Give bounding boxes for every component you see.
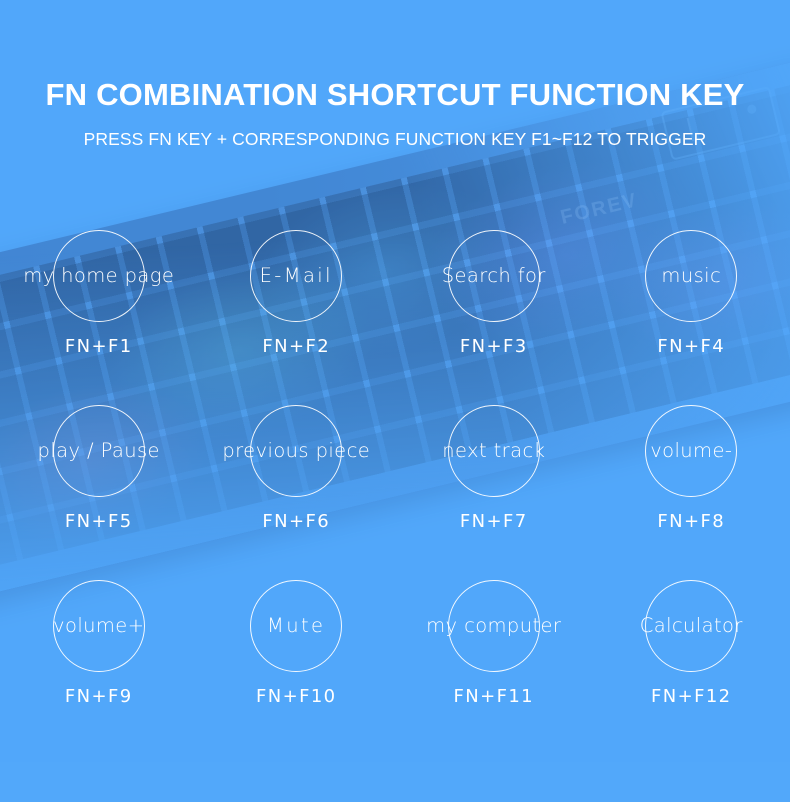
shortcut-item-fn-f2[interactable]: E-Mail FN+F2 bbox=[198, 196, 396, 371]
shortcut-label: Calculator bbox=[640, 612, 743, 640]
shortcut-combo: FN+F11 bbox=[453, 686, 534, 707]
shortcut-row: my home page FN+F1 E-Mail FN+F2 Search f… bbox=[0, 196, 790, 371]
shortcut-item-fn-f8[interactable]: volume- FN+F8 bbox=[593, 371, 790, 546]
shortcut-label: Mute bbox=[267, 612, 325, 640]
shortcut-item-fn-f10[interactable]: Mute FN+F10 bbox=[198, 546, 396, 721]
shortcut-combo: FN+F9 bbox=[65, 686, 133, 707]
shortcut-item-fn-f9[interactable]: volume+ FN+F9 bbox=[0, 546, 198, 721]
shortcut-label: Search for bbox=[442, 262, 546, 290]
shortcut-combo: FN+F2 bbox=[262, 336, 330, 357]
shortcut-poster: FOREV FN COMBINATION SHORTCUT FUNCTION K… bbox=[0, 0, 790, 802]
shortcut-label: previous piece bbox=[222, 437, 370, 465]
shortcut-item-fn-f3[interactable]: Search for FN+F3 bbox=[395, 196, 593, 371]
shortcut-item-fn-f7[interactable]: next track FN+F7 bbox=[395, 371, 593, 546]
shortcut-combo: FN+F7 bbox=[460, 511, 528, 532]
shortcut-combo: FN+F8 bbox=[657, 511, 725, 532]
shortcut-item-fn-f4[interactable]: music FN+F4 bbox=[593, 196, 790, 371]
shortcut-combo: FN+F4 bbox=[657, 336, 725, 357]
header-block: FN COMBINATION SHORTCUT FUNCTION KEY PRE… bbox=[0, 78, 790, 149]
shortcut-label: my home page bbox=[23, 262, 174, 290]
shortcut-combo: FN+F10 bbox=[256, 686, 337, 707]
shortcut-label: play / Pause bbox=[38, 437, 160, 465]
shortcut-item-fn-f5[interactable]: play / Pause FN+F5 bbox=[0, 371, 198, 546]
shortcut-label: next track bbox=[442, 437, 545, 465]
shortcut-item-fn-f6[interactable]: previous piece FN+F6 bbox=[198, 371, 396, 546]
shortcut-item-fn-f12[interactable]: Calculator FN+F12 bbox=[593, 546, 790, 721]
shortcut-combo: FN+F5 bbox=[65, 511, 133, 532]
shortcut-row: volume+ FN+F9 Mute FN+F10 my computer FN… bbox=[0, 546, 790, 721]
shortcut-combo: FN+F12 bbox=[651, 686, 732, 707]
shortcut-item-fn-f1[interactable]: my home page FN+F1 bbox=[0, 196, 198, 371]
shortcut-label: volume- bbox=[650, 437, 732, 465]
shortcut-label: E-Mail bbox=[260, 262, 333, 290]
shortcut-label: my computer bbox=[426, 612, 561, 640]
shortcut-combo: FN+F3 bbox=[460, 336, 528, 357]
page-subtitle: PRESS FN KEY + CORRESPONDING FUNCTION KE… bbox=[0, 130, 790, 149]
shortcut-combo: FN+F6 bbox=[262, 511, 330, 532]
shortcut-combo: FN+F1 bbox=[65, 336, 133, 357]
shortcut-label: music bbox=[661, 262, 721, 290]
shortcut-item-fn-f11[interactable]: my computer FN+F11 bbox=[395, 546, 593, 721]
shortcut-row: play / Pause FN+F5 previous piece FN+F6 … bbox=[0, 371, 790, 546]
page-title: FN COMBINATION SHORTCUT FUNCTION KEY bbox=[0, 78, 790, 112]
shortcut-label: volume+ bbox=[53, 612, 144, 640]
shortcut-grid: my home page FN+F1 E-Mail FN+F2 Search f… bbox=[0, 196, 790, 721]
